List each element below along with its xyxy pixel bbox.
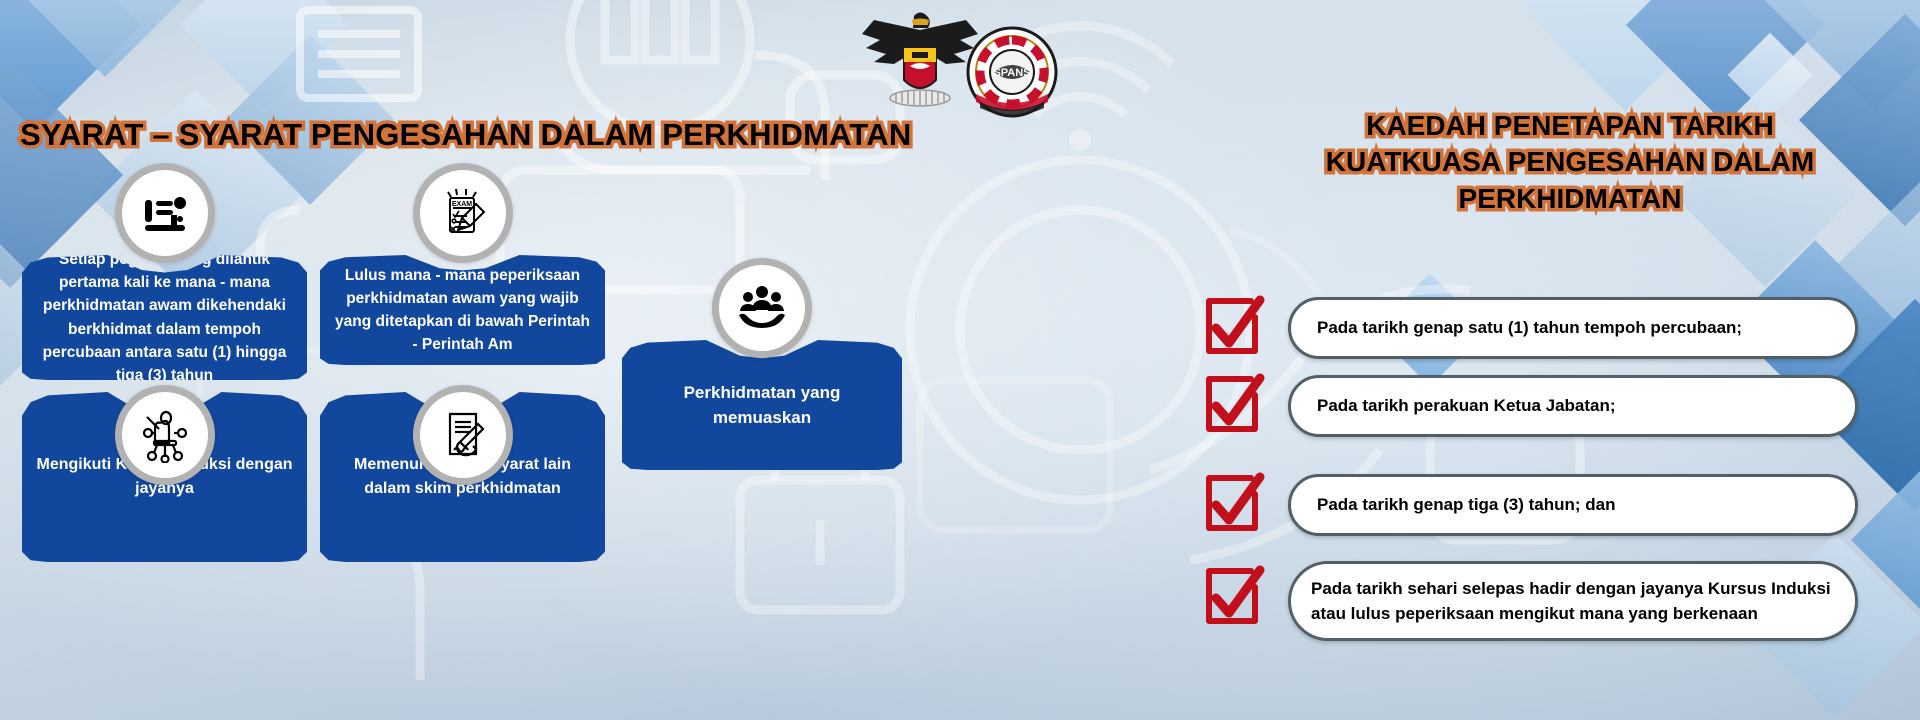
card-scheme-conditions-badge bbox=[413, 385, 513, 485]
card-induction-course-badge bbox=[115, 385, 215, 485]
spans-seal-label: SPANS bbox=[993, 67, 1030, 79]
rule-2-checkbox bbox=[1203, 373, 1265, 435]
rule-2: Pada tarikh perakuan Ketua Jabatan; bbox=[1288, 375, 1858, 437]
signing-document-icon bbox=[436, 408, 490, 462]
card-satisfactory-service-badge bbox=[712, 258, 812, 358]
card-appointment-badge bbox=[115, 163, 215, 263]
svg-text:EXAM: EXAM bbox=[452, 201, 472, 208]
card-satisfactory-service-text: Perkhidmatan yang memuaskan bbox=[634, 380, 890, 431]
right-section-title: KAEDAH PENETAPAN TARIKH KUATKUASA PENGES… bbox=[1240, 108, 1900, 217]
card-exam-badge: EXAM bbox=[413, 163, 513, 263]
card-appointment: Setiap pegawai yang dilantik pertama kal… bbox=[22, 255, 307, 380]
training-presentation-icon bbox=[137, 407, 193, 463]
rule-1-text: Pada tarikh genap satu (1) tahun tempoh … bbox=[1317, 315, 1742, 341]
right-section-title-line-3: PERKHIDMATAN bbox=[1240, 181, 1900, 217]
spans-seal: SPANS bbox=[966, 26, 1058, 118]
exam-paper-icon: EXAM bbox=[436, 186, 490, 240]
people-group-icon bbox=[735, 284, 789, 332]
rule-4-checkbox bbox=[1203, 565, 1265, 627]
rule-4-text: Pada tarikh sehari selepas hadir dengan … bbox=[1311, 576, 1835, 627]
right-section-title-line-2: KUATKUASA PENGESAHAN DALAM bbox=[1240, 144, 1900, 180]
rule-3: Pada tarikh genap tiga (3) tahun; dan bbox=[1288, 474, 1858, 536]
sarawak-state-crest bbox=[860, 8, 980, 112]
card-exam: Lulus mana - mana peperiksaan perkhidmat… bbox=[320, 255, 605, 365]
card-exam-text: Lulus mana - mana peperiksaan perkhidmat… bbox=[332, 264, 593, 357]
rule-2-text: Pada tarikh perakuan Ketua Jabatan; bbox=[1317, 393, 1616, 419]
branding-area: SPANS bbox=[860, 8, 1080, 108]
right-section-title-line-1: KAEDAH PENETAPAN TARIKH bbox=[1240, 108, 1900, 144]
rule-3-text: Pada tarikh genap tiga (3) tahun; dan bbox=[1317, 492, 1615, 518]
card-satisfactory-service: Perkhidmatan yang memuaskan bbox=[622, 340, 902, 470]
left-section-title: SYARAT – SYARAT PENGESAHAN DALAM PERKHID… bbox=[20, 117, 1030, 153]
rule-1: Pada tarikh genap satu (1) tahun tempoh … bbox=[1288, 297, 1858, 359]
id-card-icon bbox=[140, 188, 190, 238]
rule-1-checkbox bbox=[1203, 295, 1265, 357]
rule-3-checkbox bbox=[1203, 472, 1265, 534]
rule-4: Pada tarikh sehari selepas hadir dengan … bbox=[1288, 561, 1858, 641]
